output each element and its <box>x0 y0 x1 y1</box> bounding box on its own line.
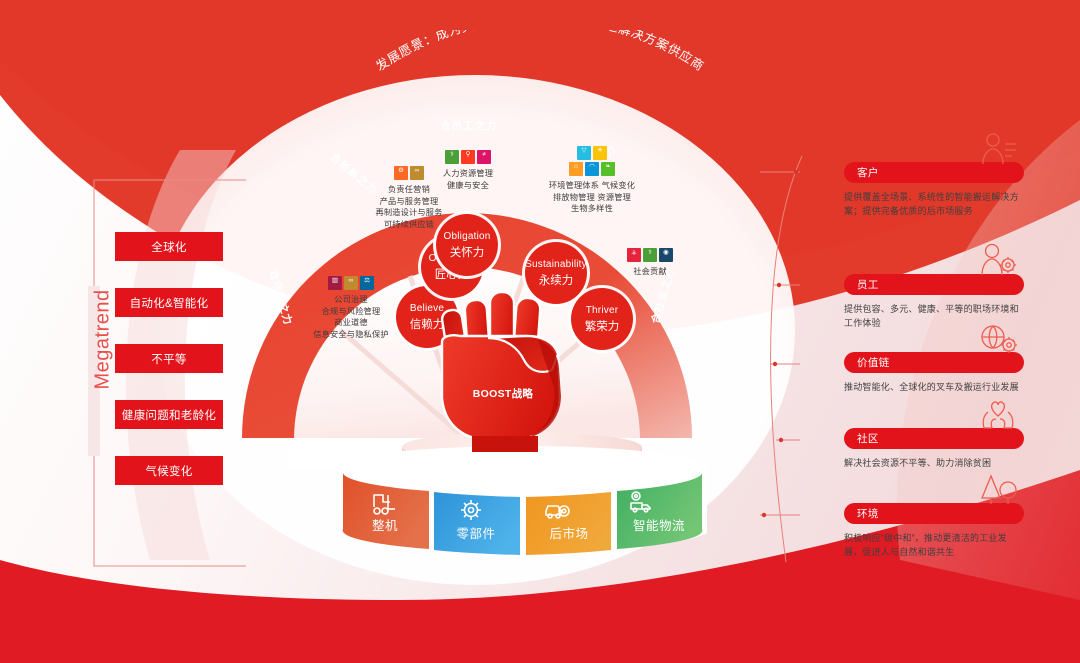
sdg-icon: ⚙ <box>394 166 408 180</box>
sdg-icon: ∞ <box>344 276 358 290</box>
segment-topic: 社会贡献 <box>602 266 698 278</box>
segment-content-3: ⚕ ⚲ ≠ 人力资源管理 健康与安全 <box>410 150 526 191</box>
employee-gear-icon <box>978 241 1018 279</box>
segment-topic: 产品与服务管理 <box>324 196 494 208</box>
core-circle-thriver[interactable]: Thriver 繁荣力 <box>571 288 633 350</box>
sdg-icon: ◠ <box>585 162 599 176</box>
segment-topic: 人力资源管理 <box>410 168 526 180</box>
vision-text: 发展愿景：成为具有全球影响力的物料搬运解决方案供应商 <box>373 30 707 74</box>
segment-topic: 排放物管理 资源管理 <box>522 192 662 204</box>
core-circle-obligation[interactable]: Obligation 关怀力 <box>436 214 498 276</box>
sdg-glyph: ▽ <box>582 147 587 154</box>
segment-content-4: ▽ ☀ ⌂ ◠ ❧ 环境管理体系 气候变化 排放物管理 资源管理 生物多样性 <box>522 146 662 215</box>
stakeholder-desc: 解决社会资源不平等、助力消除贫困 <box>844 456 1020 470</box>
globe-gear-icon <box>978 319 1018 357</box>
megatrend-label: Megatrend <box>92 294 115 390</box>
sdg-glyph: ⚙ <box>398 167 404 174</box>
sdg-icon: ◉ <box>659 248 673 262</box>
megatrend-item[interactable]: 气候变化 <box>115 456 223 485</box>
core-cn-label: 繁荣力 <box>585 318 620 334</box>
stakeholder-panel: 客户 提供覆盖全场景、系统性的智能搬运解决方案；提供完备优质的后市场服务 员工 … <box>760 150 1080 570</box>
hands-heart-icon <box>978 394 1018 432</box>
megatrend-item[interactable]: 不平等 <box>115 344 223 373</box>
megatrend-list: 全球化 自动化&智能化 不平等 健康问题和老龄化 气候变化 <box>115 232 247 512</box>
sdg-glyph: ☀ <box>597 147 603 154</box>
sdg-glyph: ⚕ <box>648 249 652 256</box>
core-en-label: Sustainability <box>525 259 587 270</box>
megatrend-item[interactable]: 健康问题和老龄化 <box>115 400 223 429</box>
sdg-glyph: ⚕ <box>450 151 454 158</box>
sdg-glyph: ⚶ <box>631 249 637 256</box>
sdg-glyph: ≠ <box>482 151 486 158</box>
sdg-icon: ☀ <box>593 146 607 160</box>
megatrend-item[interactable]: 自动化&智能化 <box>115 288 223 317</box>
infographic-canvas: 使命目标：聚合力，提升可持续的工业未来 发展愿景：成为具有全球影响力的物料搬运解… <box>0 0 1080 663</box>
segment-arc-label-3: 合员工之力 <box>440 118 498 133</box>
sdg-icon: ⚖ <box>360 276 374 290</box>
stakeholder-item-valuechain: 价值链 推动智能化、全球化的叉车及搬运行业发展 <box>844 352 1024 394</box>
segment-content-5: ⚶ ⚕ ◉ 社会贡献 <box>602 248 698 278</box>
sdg-icon: ▽ <box>577 146 591 160</box>
tree-icon <box>978 470 1018 508</box>
customer-icon <box>978 130 1018 168</box>
megatrend-panel: Megatrend 全球化 自动化&智能化 不平等 健康问题和老龄化 气候变化 <box>88 178 248 568</box>
sdg-icon: ⌂ <box>569 162 583 176</box>
sdg-icon: ⚲ <box>461 150 475 164</box>
boost-strategy-label: BOOST战略 <box>443 386 563 401</box>
megatrend-item[interactable]: 全球化 <box>115 232 223 261</box>
sdg-glyph: ◉ <box>663 249 669 256</box>
sdg-glyph: ◠ <box>589 163 595 170</box>
business-cell-label[interactable]: 智能物流 <box>616 515 702 534</box>
sdg-icon: ⚕ <box>643 248 657 262</box>
business-cell-label[interactable]: 后市场 <box>526 523 612 542</box>
stakeholder-item-community: 社区 解决社会资源不平等、助力消除贫困 <box>844 428 1024 470</box>
sdg-glyph: ⚲ <box>466 151 471 158</box>
stakeholder-desc: 推动智能化、全球化的叉车及搬运行业发展 <box>844 380 1020 394</box>
svg-text:发展愿景：成为具有全球影响力的物料搬运解决方案供应商: 发展愿景：成为具有全球影响力的物料搬运解决方案供应商 <box>373 30 707 74</box>
sdg-glyph: ▥ <box>332 277 338 284</box>
sdg-icon-row: ⚶ ⚕ ◉ <box>602 248 698 262</box>
stakeholder-desc: 提供覆盖全场景、系统性的智能搬运解决方案；提供完备优质的后市场服务 <box>844 190 1020 218</box>
business-cell-label[interactable]: 整机 <box>342 515 428 534</box>
stakeholder-item-environment: 环境 积极响应“碳中和”，推动更清洁的工业发展，促进人与自然和谐共生 <box>844 503 1024 559</box>
core-cn-label: 关怀力 <box>450 244 485 260</box>
core-en-label: Obligation <box>443 231 490 242</box>
core-en-label: Thriver <box>586 305 619 316</box>
fist-icon <box>430 278 580 453</box>
sdg-icon: ▥ <box>328 276 342 290</box>
stakeholder-desc: 积极响应“碳中和”，推动更清洁的工业发展，促进人与自然和谐共生 <box>844 531 1020 559</box>
segment-topic: 健康与安全 <box>410 180 526 192</box>
sdg-glyph: ⌂ <box>574 163 578 170</box>
business-cell-label[interactable]: 零部件 <box>433 523 519 542</box>
stakeholder-item-customer: 客户 提供覆盖全场景、系统性的智能搬运解决方案；提供完备优质的后市场服务 <box>844 162 1024 218</box>
sdg-icon-row: ▽ ☀ <box>522 146 662 160</box>
segment-topic: 环境管理体系 气候变化 <box>522 180 662 192</box>
sdg-icon: ≠ <box>477 150 491 164</box>
sdg-icon-row: ⌂ ◠ ❧ <box>522 162 662 176</box>
sdg-icon: ⚶ <box>627 248 641 262</box>
sdg-glyph: ❧ <box>605 163 610 170</box>
sdg-icon: ❧ <box>601 162 615 176</box>
sdg-glyph: ∞ <box>349 277 354 284</box>
sdg-icon: ⚕ <box>445 150 459 164</box>
sdg-icon-row: ⚕ ⚲ ≠ <box>410 150 526 164</box>
sdg-glyph: ⚖ <box>364 277 370 284</box>
segment-topic: 生物多样性 <box>522 203 662 215</box>
